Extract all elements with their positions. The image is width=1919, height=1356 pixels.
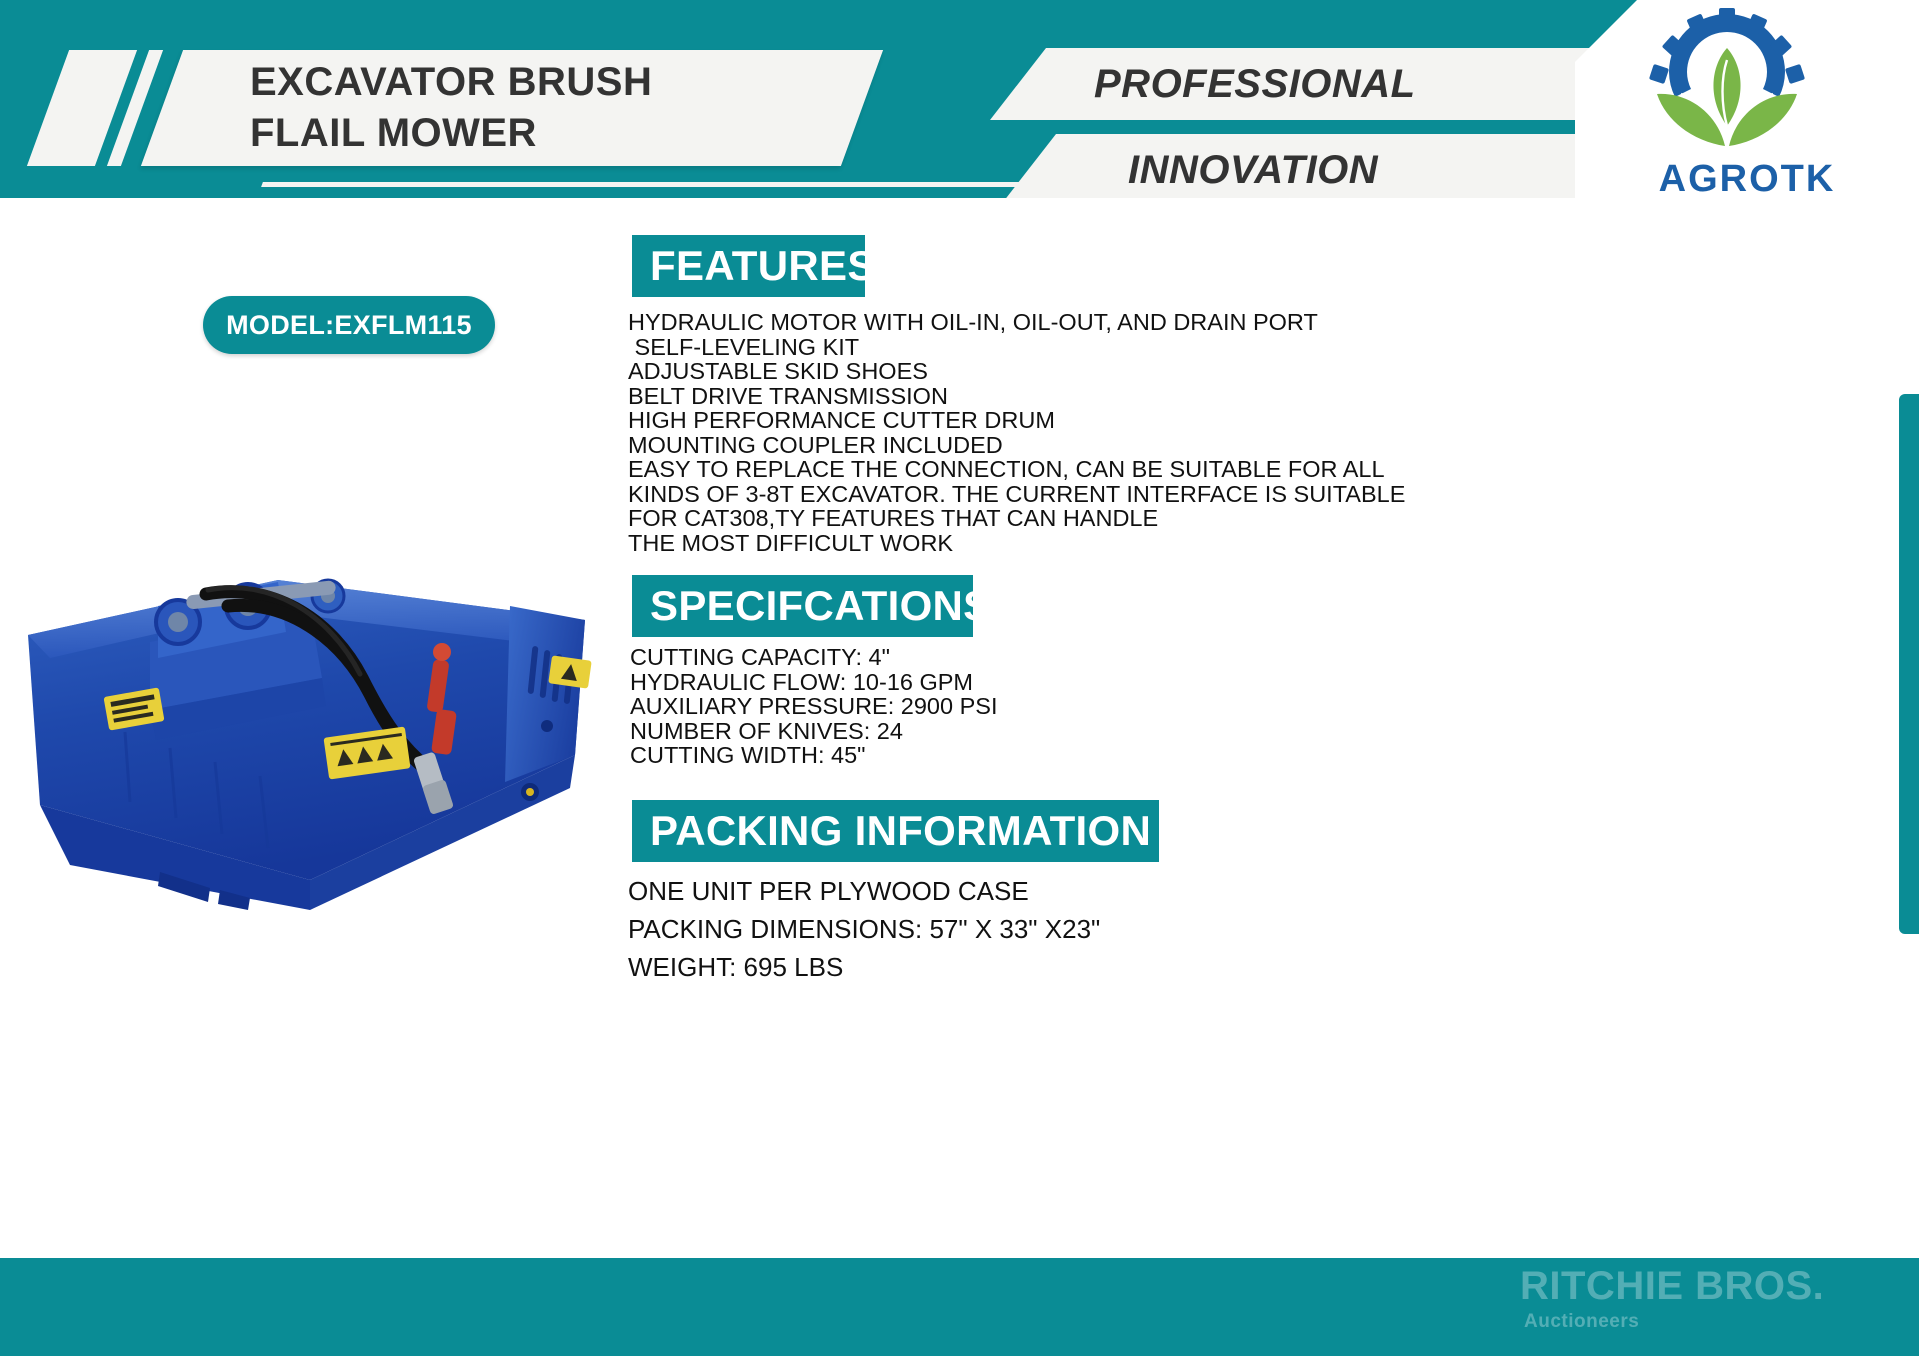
specification-line: AUXILIARY PRESSURE: 2900 PSI (630, 694, 1330, 719)
tagline-professional-text: PROFESSIONAL (1094, 62, 1416, 107)
specification-line: CUTTING CAPACITY: 4" (630, 645, 1330, 670)
specifications-list: CUTTING CAPACITY: 4" HYDRAULIC FLOW: 10-… (630, 645, 1330, 768)
specification-line: NUMBER OF KNIVES: 24 (630, 719, 1330, 744)
product-title-line-1: EXCAVATOR BRUSH (250, 57, 870, 108)
product-title-line-2: FLAIL MOWER (250, 108, 870, 159)
tagline-innovation-text: INNOVATION (1128, 148, 1378, 193)
agrotk-logo-icon (1637, 8, 1817, 158)
features-line: HIGH PERFORMANCE CUTTER DRUM (628, 408, 1388, 433)
features-line: THE MOST DIFFICULT WORK (628, 531, 1388, 556)
tagline-ribbon-professional: PROFESSIONAL (990, 48, 1630, 120)
section-heading-features: FEATURES (632, 235, 865, 297)
features-line: MOUNTING COUPLER INCLUDED (628, 433, 1388, 458)
section-heading-packing: PACKING INFORMATION (632, 800, 1159, 862)
features-line: FOR CAT308,TY FEATURES THAT CAN HANDLE (628, 506, 1388, 531)
features-line: EASY TO REPLACE THE CONNECTION, CAN BE S… (628, 457, 1388, 482)
features-line: BELT DRIVE TRANSMISSION (628, 384, 1388, 409)
tagline-ribbon-innovation: INNOVATION (1000, 134, 1640, 206)
packing-heading-label: PACKING INFORMATION (650, 807, 1151, 855)
product-spec-sheet: EXCAVATOR BRUSH FLAIL MOWER PROFESSIONAL… (0, 0, 1919, 1356)
features-heading-label: FEATURES (650, 242, 876, 290)
specification-line: HYDRAULIC FLOW: 10-16 GPM (630, 670, 1330, 695)
features-line: ADJUSTABLE SKID SHOES (628, 359, 1388, 384)
packing-line: ONE UNIT PER PLYWOOD CASE (628, 872, 1388, 910)
right-edge-accent-tab (1899, 394, 1919, 934)
section-heading-specifications: SPECIFCATIONS (632, 575, 973, 637)
model-badge: MODEL:EXFLM115 (203, 296, 495, 354)
product-title: EXCAVATOR BRUSH FLAIL MOWER (250, 52, 870, 164)
brand-wordmark: AGROTK (1575, 158, 1919, 201)
page-footer (0, 1258, 1919, 1356)
specifications-heading-label: SPECIFCATIONS (650, 582, 991, 630)
packing-line: PACKING DIMENSIONS: 57" X 33" X23" (628, 910, 1388, 948)
features-line: HYDRAULIC MOTOR WITH OIL-IN, OIL-OUT, AN… (628, 310, 1388, 335)
features-line: SELF-LEVELING KIT (628, 335, 1388, 360)
packing-list: ONE UNIT PER PLYWOOD CASE PACKING DIMENS… (628, 872, 1388, 986)
product-photo (10, 410, 610, 910)
model-badge-label: MODEL:EXFLM115 (226, 310, 472, 341)
specification-line: CUTTING WIDTH: 45" (630, 743, 1330, 768)
features-line: KINDS OF 3-8T EXCAVATOR. THE CURRENT INT… (628, 482, 1388, 507)
packing-line: WEIGHT: 695 LBS (628, 948, 1388, 986)
features-list: HYDRAULIC MOTOR WITH OIL-IN, OIL-OUT, AN… (628, 310, 1388, 555)
